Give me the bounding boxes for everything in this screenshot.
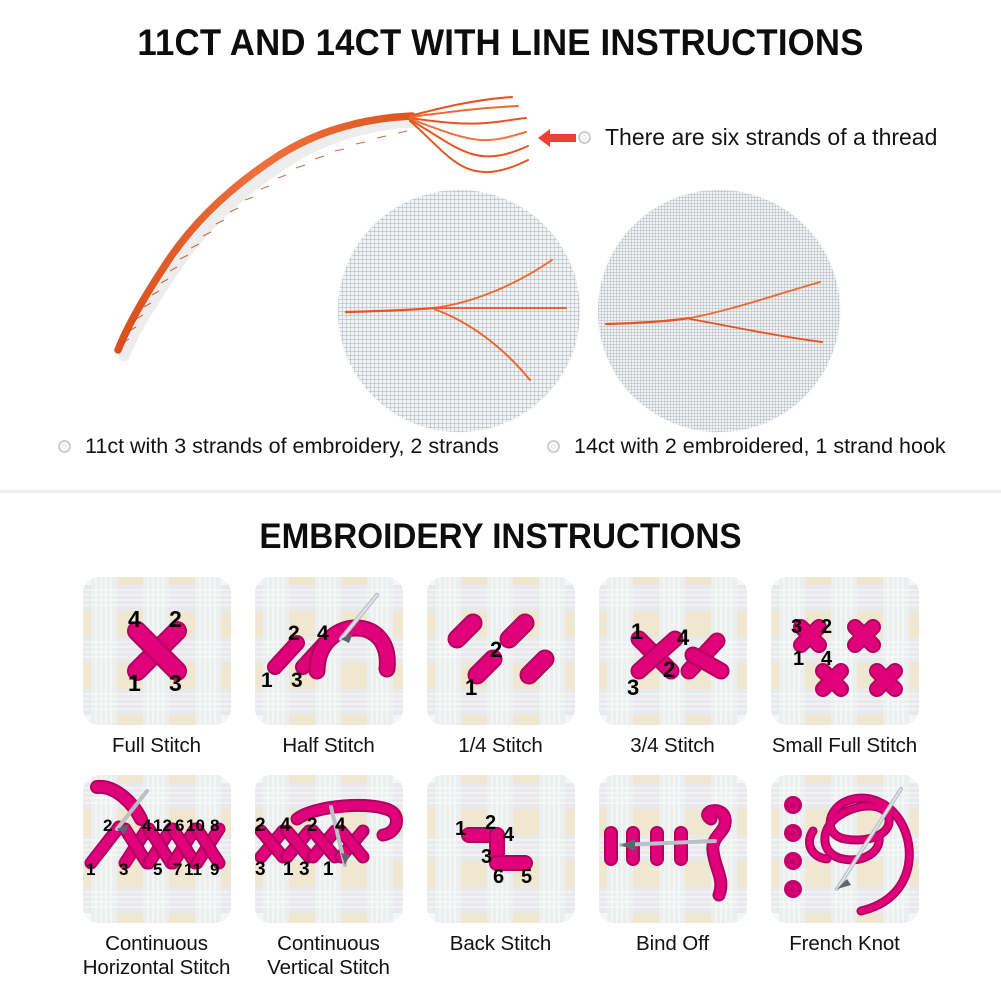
strand-illustration-14ct bbox=[598, 190, 840, 432]
stitch-number: 5 bbox=[153, 860, 162, 879]
stitch-number: 4 bbox=[142, 816, 152, 835]
arrow-left-icon bbox=[536, 127, 578, 149]
stitch-number: 4 bbox=[128, 606, 141, 632]
strand-illustration-11ct bbox=[338, 190, 580, 432]
stitch-diagram-french-knot bbox=[771, 775, 919, 923]
stitch-label: Small Full Stitch bbox=[772, 734, 917, 758]
caption-14ct: 14ct with 2 embroidered, 1 strand hook bbox=[547, 434, 946, 459]
stitch-number: 3 bbox=[119, 860, 128, 879]
stitch-diagram-quarter-stitch: 2 1 bbox=[427, 577, 575, 725]
stitch-cell-bind-off: Bind Off bbox=[599, 775, 747, 980]
stitch-number: 3 bbox=[791, 616, 802, 638]
stitch-label: Half Stitch bbox=[282, 734, 374, 758]
stitch-label: Full Stitch bbox=[112, 734, 201, 758]
stitch-cell-back-stitch: 1 2 4 3 6 5 Back Stitch bbox=[427, 775, 575, 980]
stitch-number: 4 bbox=[677, 625, 690, 650]
stitch-number: 2 bbox=[485, 812, 496, 834]
stitch-number: 1 bbox=[323, 859, 334, 880]
stitch-cell-small-full-stitch: 3 2 1 4 Small Full Stitch bbox=[771, 577, 919, 758]
circle-bullet-icon bbox=[547, 440, 560, 453]
stitch-number: 1 bbox=[128, 670, 141, 696]
stitch-number: 2 bbox=[288, 622, 300, 645]
stitch-label: Continuous Horizontal Stitch bbox=[83, 932, 231, 980]
thread-note: There are six strands of a thread bbox=[536, 124, 937, 151]
fabric-swatch-11ct bbox=[338, 190, 580, 432]
stitch-number: 2 bbox=[255, 815, 266, 836]
stitch-diagram-continuous-vertical-stitch: 2 4 2 4 3 1 3 1 bbox=[255, 775, 403, 923]
stitch-number: 4 bbox=[821, 648, 833, 670]
stitch-number: 4 bbox=[317, 622, 329, 645]
caption-11ct-text: 11ct with 3 strands of embroidery, 2 str… bbox=[85, 434, 499, 459]
stitch-number: 2 bbox=[490, 637, 502, 662]
stitch-number: 5 bbox=[521, 866, 532, 888]
stitch-diagram-three-quarter-stitch: 1 4 2 3 bbox=[599, 577, 747, 725]
circle-bullet-icon bbox=[58, 440, 71, 453]
stitch-diagram-bind-off bbox=[599, 775, 747, 923]
caption-14ct-text: 14ct with 2 embroidered, 1 strand hook bbox=[574, 434, 946, 459]
stitch-number: 12 bbox=[153, 816, 172, 835]
stitch-label: Bind Off bbox=[636, 932, 709, 956]
stitch-number: 2 bbox=[821, 616, 832, 638]
stitch-number: 3 bbox=[627, 675, 639, 700]
stitch-number: 1 bbox=[631, 619, 643, 644]
stitch-number: 3 bbox=[255, 859, 266, 880]
stitch-diagram-small-full-stitch: 3 2 1 4 bbox=[771, 577, 919, 725]
stitch-cell-french-knot: French Knot bbox=[771, 775, 919, 980]
stitch-number: 1 bbox=[261, 669, 273, 692]
stitch-number: 1 bbox=[465, 675, 477, 700]
stitch-number: 1 bbox=[455, 818, 466, 840]
stitch-number: 6 bbox=[493, 866, 504, 888]
page-title: 11CT AND 14CT WITH LINE INSTRUCTIONS bbox=[30, 22, 971, 64]
stitch-number: 2 bbox=[169, 606, 182, 632]
stitch-number: 7 bbox=[173, 860, 182, 879]
stitch-cell-continuous-horizontal-stitch: 2 4 12 6 10 8 1 3 5 7 11 bbox=[83, 775, 231, 980]
stitch-label: 3/4 Stitch bbox=[630, 734, 714, 758]
stitch-number: 10 bbox=[186, 816, 205, 835]
stitch-number: 6 bbox=[175, 816, 184, 835]
stitch-number: 1 bbox=[283, 859, 294, 880]
stitch-number: 3 bbox=[299, 859, 310, 880]
stitch-number: 1 bbox=[793, 648, 804, 670]
circle-bullet-icon bbox=[578, 131, 591, 144]
stitch-number: 2 bbox=[663, 657, 675, 682]
stitch-grid: 4 2 1 3 Full Stitch bbox=[0, 577, 1001, 981]
stitch-number: 1 bbox=[86, 860, 95, 879]
stitch-number: 8 bbox=[210, 816, 219, 835]
stitch-cell-full-stitch: 4 2 1 3 Full Stitch bbox=[83, 577, 231, 758]
stitch-label: 1/4 Stitch bbox=[458, 734, 542, 758]
stitch-label: Back Stitch bbox=[450, 932, 551, 956]
stitch-row: 2 4 12 6 10 8 1 3 5 7 11 bbox=[0, 775, 1001, 980]
thread-note-text: There are six strands of a thread bbox=[605, 124, 937, 151]
stitch-diagram-full-stitch: 4 2 1 3 bbox=[83, 577, 231, 725]
stitch-number: 9 bbox=[210, 860, 219, 879]
stitch-number: 4 bbox=[280, 815, 291, 836]
stitch-diagram-half-stitch: 2 4 1 3 bbox=[255, 577, 403, 725]
stitch-diagram-back-stitch: 1 2 4 3 6 5 bbox=[427, 775, 575, 923]
stitch-label: Continuous Vertical Stitch bbox=[267, 932, 390, 980]
stitch-number: 4 bbox=[503, 824, 515, 846]
stitch-number: 3 bbox=[481, 846, 492, 868]
stitch-cell-continuous-vertical-stitch: 2 4 2 4 3 1 3 1 Continuous Vertical Sti bbox=[255, 775, 403, 980]
stitch-diagram-continuous-horizontal-stitch: 2 4 12 6 10 8 1 3 5 7 11 bbox=[83, 775, 231, 923]
stitch-cell-three-quarter-stitch: 1 4 2 3 3/4 Stitch bbox=[599, 577, 747, 758]
embroidery-title: EMBROIDERY INSTRUCTIONS bbox=[25, 517, 976, 557]
stitch-number: 3 bbox=[291, 669, 303, 692]
stitch-number: 2 bbox=[103, 816, 112, 835]
stitch-row: 4 2 1 3 Full Stitch bbox=[0, 577, 1001, 758]
caption-11ct: 11ct with 3 strands of embroidery, 2 str… bbox=[58, 434, 499, 459]
stitch-number: 2 bbox=[307, 815, 318, 836]
stitch-cell-half-stitch: 2 4 1 3 Half Stitch bbox=[255, 577, 403, 758]
instruction-sheet: 11CT AND 14CT WITH LINE INSTRUCTIONS bbox=[0, 0, 1001, 1001]
fabric-swatch-14ct bbox=[598, 190, 840, 432]
section-ct-instructions: 11CT AND 14CT WITH LINE INSTRUCTIONS bbox=[0, 0, 1001, 492]
stitch-number: 3 bbox=[169, 670, 182, 696]
stitch-number: 4 bbox=[335, 815, 346, 836]
stitch-cell-quarter-stitch: 2 1 1/4 Stitch bbox=[427, 577, 575, 758]
stitch-label: French Knot bbox=[789, 932, 900, 956]
section-embroidery-instructions: EMBROIDERY INSTRUCTIONS bbox=[0, 493, 1001, 1001]
stitch-number: 11 bbox=[184, 860, 202, 879]
